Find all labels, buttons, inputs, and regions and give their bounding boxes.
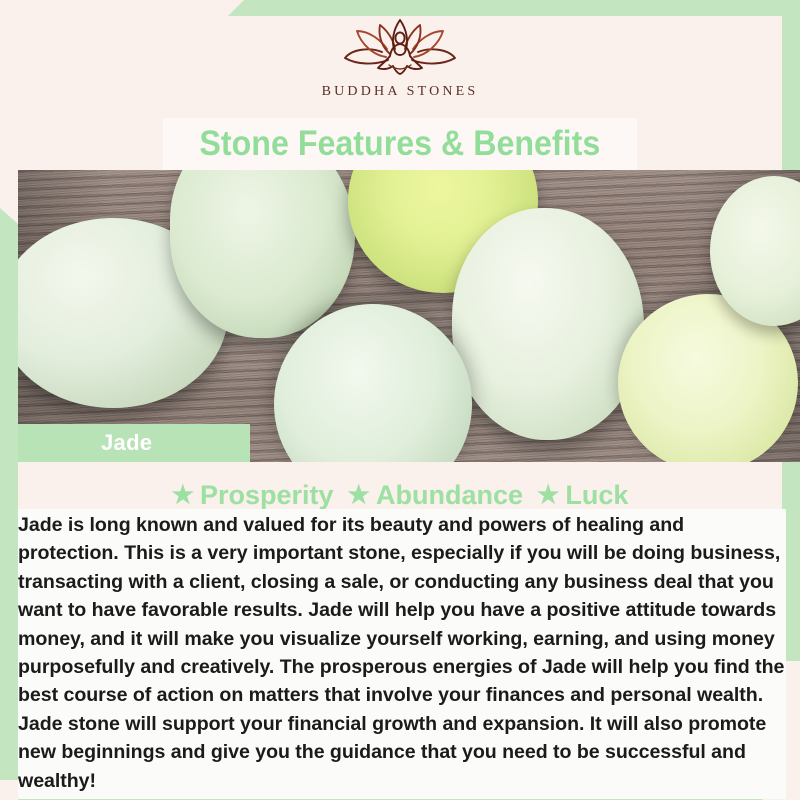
decor-ribbon-top-right [228, 0, 800, 16]
lotus-meditation-icon [325, 16, 475, 82]
benefit-label: Prosperity [200, 480, 334, 511]
star-icon: ★ [172, 483, 194, 508]
benefits-row: ★ Prosperity ★ Abundance ★ Luck [0, 480, 800, 511]
stone-photo: Jade [18, 170, 800, 462]
benefit-label: Abundance [376, 480, 523, 511]
benefit-item-abundance: ★ Abundance [348, 480, 523, 511]
title-band: Stone Features & Benefits [163, 118, 637, 170]
brand-logo-block: BUDDHA STONES [0, 16, 800, 112]
decor-ribbon-left-upper [0, 208, 18, 462]
description-paragraph: Jade is long known and valued for its be… [18, 509, 786, 799]
brand-name: BUDDHA STONES [322, 84, 479, 100]
star-icon: ★ [348, 483, 370, 508]
stone-name: Jade [101, 430, 152, 456]
stone-pebble [452, 208, 644, 440]
stone-benefits-infographic: BUDDHA STONES Stone Features & Benefits … [0, 0, 800, 800]
page-title: Stone Features & Benefits [200, 124, 601, 164]
stone-name-band: Jade [18, 424, 250, 462]
benefit-item-luck: ★ Luck [537, 480, 628, 511]
benefit-label: Luck [565, 480, 628, 511]
benefit-item-prosperity: ★ Prosperity [172, 480, 334, 511]
star-icon: ★ [537, 483, 559, 508]
